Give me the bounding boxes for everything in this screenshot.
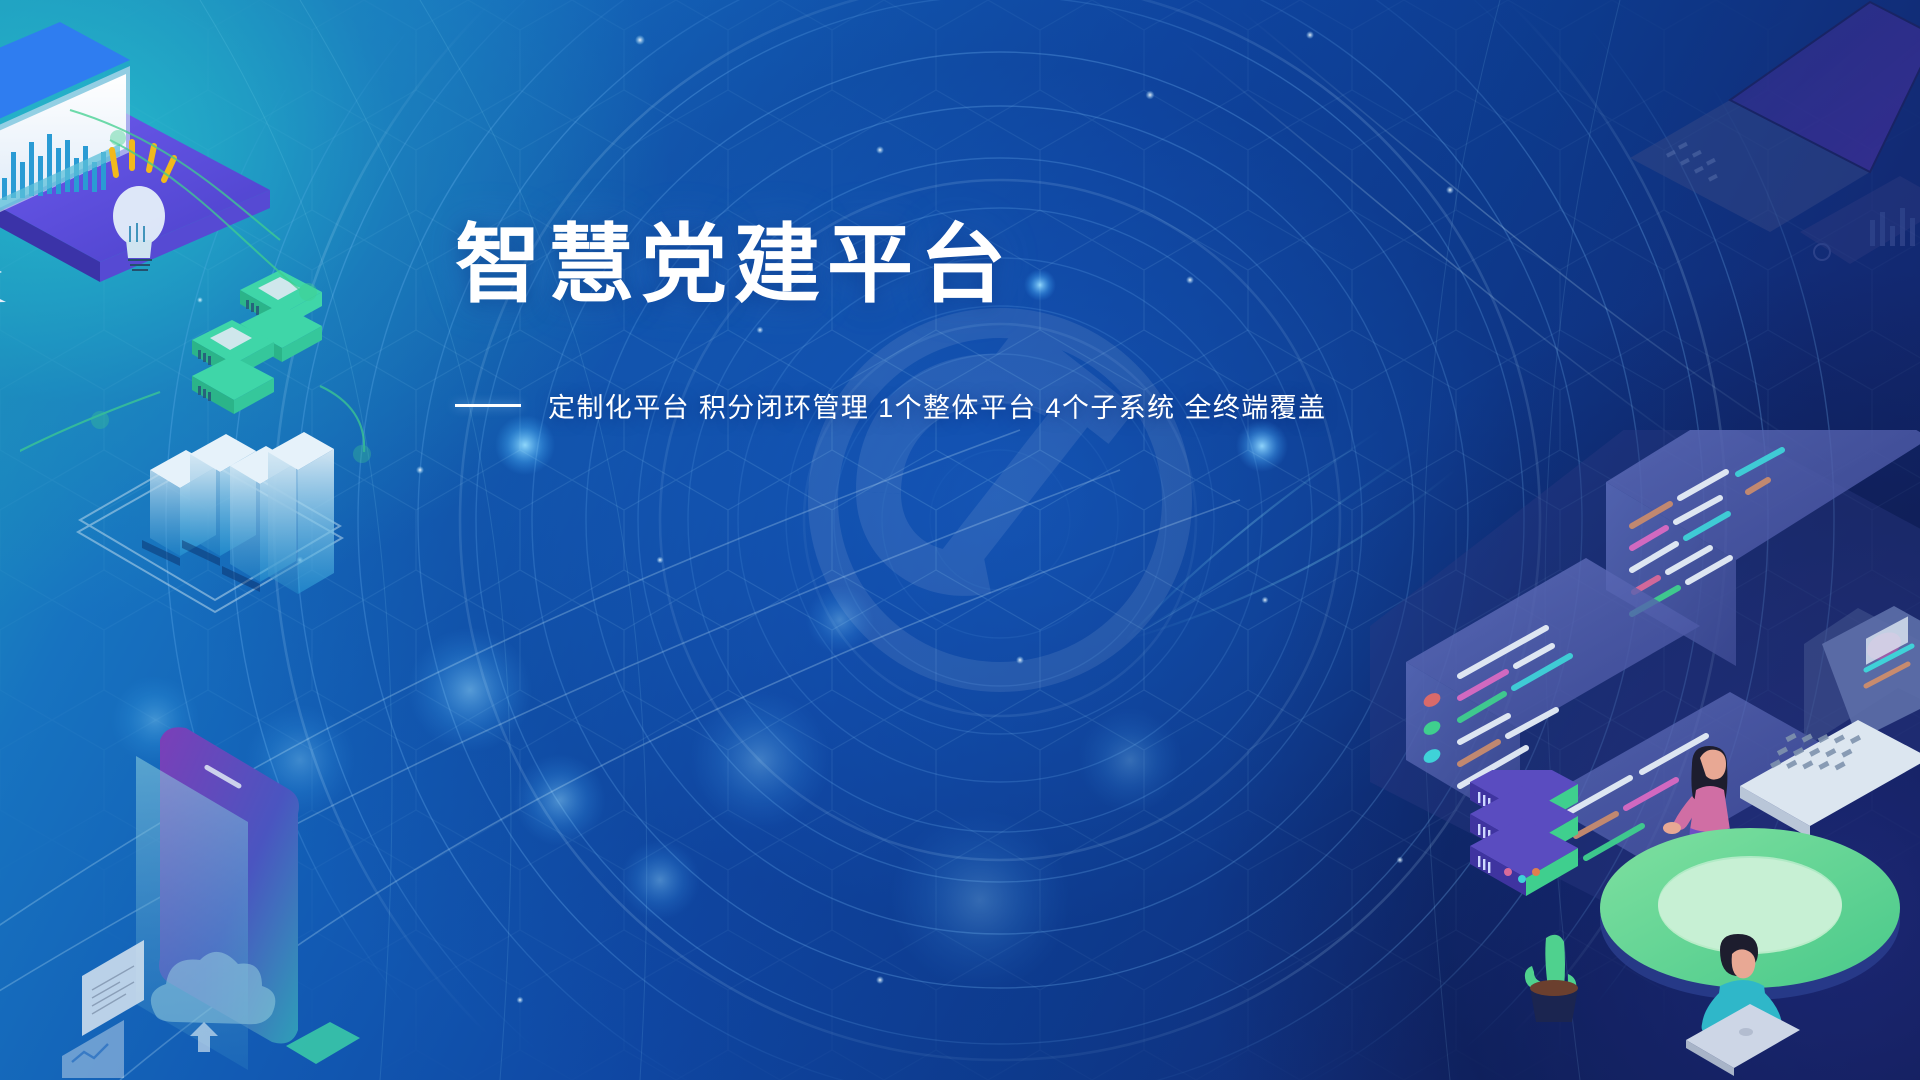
subtitle-dash-rule: [455, 404, 521, 407]
cactus-plant-icon: [1525, 935, 1578, 1022]
document-card-icon: [82, 940, 144, 1036]
subtitle-row: 定制化平台 积分闭环管理 1个整体平台 4个子系统 全终端覆盖: [455, 386, 1515, 425]
isometric-laptop-dark-scene: [1570, 0, 1920, 300]
isometric-developer-scene: [1460, 770, 1920, 1080]
data-bar-towers-icon: [150, 432, 334, 594]
hero-banner: 智慧党建平台 定制化平台 积分闭环管理 1个整体平台 4个子系统 全终端覆盖: [0, 0, 1920, 1080]
server-rack-icon: [1470, 770, 1578, 896]
isometric-smartphone-cloud-scene: [40, 600, 360, 1080]
hero-text-block: 智慧党建平台 定制化平台 积分闭环管理 1个整体平台 4个子系统 全终端覆盖: [455, 222, 1515, 425]
subtitle-text: 定制化平台 积分闭环管理 1个整体平台 4个子系统 全终端覆盖: [548, 386, 1326, 425]
isometric-monitor-chart-scene: [0, 0, 360, 420]
page-title: 智慧党建平台: [455, 222, 1515, 308]
